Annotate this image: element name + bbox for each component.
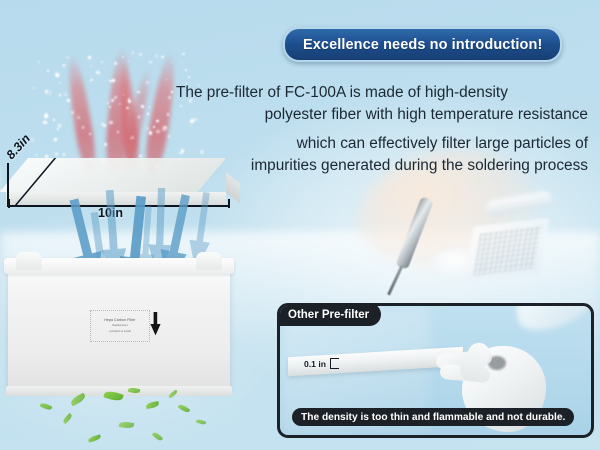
particle-speck <box>168 135 170 137</box>
particle-speck <box>109 106 111 108</box>
copy-line-4: impurities generated during the solderin… <box>176 155 588 177</box>
particle-speck <box>162 128 165 131</box>
particle-speck <box>63 64 66 67</box>
particle-speck <box>101 61 103 63</box>
particle-speck <box>49 91 51 93</box>
particle-speck <box>57 128 59 130</box>
particle-speck <box>49 94 50 95</box>
particle-speck <box>119 103 121 105</box>
panel-caption: The density is too thin and flammable an… <box>292 408 574 426</box>
particle-speck <box>156 130 159 133</box>
particle-speck <box>104 143 107 146</box>
particle-speck <box>109 121 113 125</box>
particle-speck <box>56 74 59 77</box>
particle-speck <box>149 106 151 108</box>
down-arrow-icon <box>150 312 161 341</box>
particle-speck <box>188 76 190 78</box>
particle-speck <box>107 102 109 104</box>
particle-speck <box>91 65 92 66</box>
particle-speck <box>104 94 105 95</box>
particle-speck <box>67 99 71 103</box>
unit-mount-tab-right <box>196 252 222 270</box>
particle-speck <box>55 153 58 156</box>
particle-speck <box>139 53 142 56</box>
particle-speck <box>126 107 128 109</box>
particle-speck <box>59 94 61 96</box>
particle-speck <box>171 91 172 92</box>
panel-tab: Other Pre-filter <box>277 303 381 326</box>
particle-speck <box>147 113 149 115</box>
unit-label-line2: Replacement <box>112 324 127 327</box>
particle-speck <box>43 121 46 124</box>
particle-speck <box>131 136 134 139</box>
particle-speck <box>128 61 129 62</box>
panel-caption-text: The density is too thin and flammable an… <box>301 412 565 423</box>
particle-speck <box>96 71 99 74</box>
particle-speck <box>146 127 149 130</box>
particle-speck <box>36 154 38 156</box>
particle-speck <box>149 61 152 64</box>
particle-speck <box>58 124 61 127</box>
particle-speck <box>149 131 152 134</box>
particle-speck <box>185 69 187 71</box>
poster-canvas: 10in 8.3in 0.8in Hepa Carbon Filter Repl… <box>0 0 600 450</box>
particle-speck <box>88 56 91 59</box>
copy-line-3: which can effectively filter large parti… <box>176 133 588 155</box>
particle-speck <box>114 96 117 99</box>
particle-speck <box>53 119 55 121</box>
particle-speck <box>45 90 48 93</box>
particle-speck <box>168 151 169 152</box>
particle-speck <box>161 56 164 59</box>
particle-speck <box>167 113 170 116</box>
fume-extractor-unit: Hepa Carbon Filter Replacement pull down… <box>8 266 230 390</box>
particle-speck <box>155 54 159 58</box>
particle-speck <box>90 79 92 81</box>
unit-instruction-label: Hepa Carbon Filter Replacement pull down… <box>90 310 150 342</box>
particle-speck <box>82 126 85 129</box>
unit-mount-tab-left <box>16 252 42 270</box>
dimension-tick <box>228 199 230 208</box>
particle-speck <box>47 70 49 72</box>
description-copy: The pre-filter of FC-100A is made of hig… <box>176 82 588 177</box>
particle-speck <box>46 93 47 94</box>
particle-speck <box>64 93 66 95</box>
unit-label-line1: Hepa Carbon Filter <box>104 319 135 322</box>
particle-speck <box>77 116 80 119</box>
headline-banner: Excellence needs no introduction! <box>283 27 562 62</box>
particle-speck <box>156 120 158 122</box>
particle-speck <box>141 105 144 108</box>
headline-banner-text: Excellence needs no introduction! <box>303 37 542 53</box>
copy-line-1: The pre-filter of FC-100A is made of hig… <box>176 82 588 104</box>
particle-speck <box>122 56 124 58</box>
thickness-bracket-icon <box>330 358 339 369</box>
particle-speck <box>128 100 131 103</box>
particle-speck <box>137 91 140 94</box>
panel-thickness-callout: 0.1 in <box>304 358 339 369</box>
particle-speck <box>153 126 155 128</box>
particle-speck <box>63 153 66 156</box>
particle-speck <box>146 81 149 84</box>
particle-speck <box>181 62 182 63</box>
panel-thickness-label: 0.1 in <box>304 359 326 369</box>
particle-speck <box>38 61 39 62</box>
particle-speck <box>168 96 171 99</box>
particle-speck <box>111 99 114 102</box>
particle-speck <box>138 116 140 118</box>
particle-speck <box>109 80 111 82</box>
dimension-label-thickness: 0.8in <box>0 165 2 194</box>
unit-label-line3: pull down to install <box>109 330 130 333</box>
background-circuit-board-image <box>464 218 549 283</box>
particle-speck <box>114 62 117 65</box>
particle-speck <box>89 133 91 135</box>
other-prefilter-panel: Other Pre-filter 0.1 in The density is t… <box>277 303 594 438</box>
particle-speck <box>172 62 173 63</box>
particle-speck <box>103 124 106 127</box>
dimension-line-thickness <box>7 163 9 207</box>
panel-tab-label: Other Pre-filter <box>288 309 369 321</box>
particle-speck <box>71 111 74 114</box>
particle-speck <box>123 94 124 95</box>
copy-line-2: polyester fiber with high temperature re… <box>176 104 588 126</box>
particle-speck <box>112 79 114 81</box>
particle-speck <box>67 57 69 59</box>
particle-speck <box>182 53 184 55</box>
particle-speck <box>54 138 56 140</box>
particle-speck <box>139 155 142 158</box>
particle-speck <box>33 87 36 90</box>
particle-speck <box>166 79 168 81</box>
particle-speck <box>59 82 61 84</box>
particle-speck <box>132 51 135 54</box>
particle-speck <box>117 131 119 133</box>
